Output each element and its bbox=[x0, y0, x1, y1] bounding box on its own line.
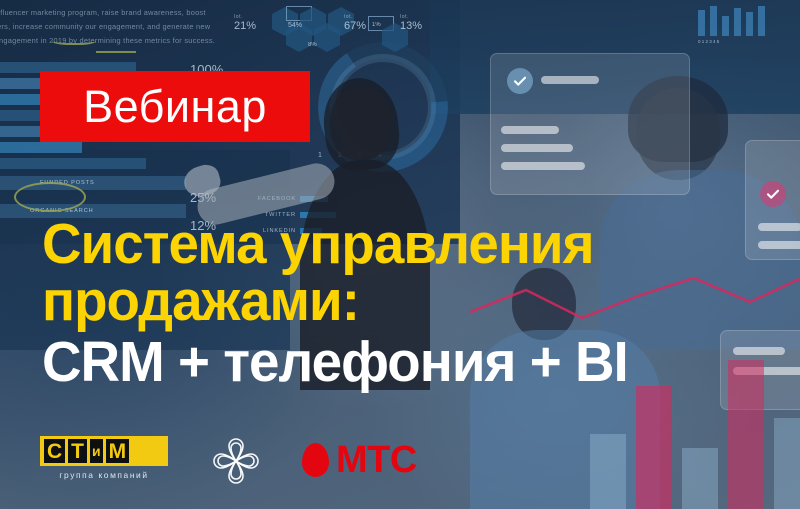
logo-stim-mark: С Т и М bbox=[40, 436, 168, 466]
logo-mts-label: МТС bbox=[336, 441, 417, 479]
webinar-banner: influencer marketing program, raise bran… bbox=[0, 0, 800, 509]
bg-mini-axis: 0 1 2 3 4 5 bbox=[698, 39, 719, 44]
logo-stim[interactable]: С Т и М группа компаний bbox=[40, 436, 168, 480]
knot-icon bbox=[205, 430, 267, 492]
logo-row: С Т и М группа компаний bbox=[0, 425, 800, 509]
overlay-card-primary bbox=[490, 53, 690, 195]
bg-mini-bar-chart: 0 1 2 3 4 5 bbox=[696, 6, 788, 44]
photo-person-woman-head bbox=[330, 86, 392, 160]
highlight-oval-annotation bbox=[14, 182, 86, 212]
headline-line-3: CRM + телефония + BI bbox=[42, 334, 743, 391]
bg-hex-percent-13: lot.13% bbox=[400, 14, 422, 32]
bg-hex-percent-8: 8% bbox=[308, 42, 317, 48]
bg-hexagon bbox=[382, 30, 408, 45]
bg-hex-caption: lot. bbox=[234, 14, 256, 20]
bg-hex-caption: lot. bbox=[400, 14, 422, 20]
logo-stim-letter-m: М bbox=[106, 439, 130, 463]
highlight-scribble-2 bbox=[96, 45, 136, 53]
checkmark-icon bbox=[760, 181, 786, 207]
logo-stim-tagline: группа компаний bbox=[40, 470, 168, 480]
logo-stim-letter-t: Т bbox=[68, 439, 87, 463]
headline-line-2: продажами: bbox=[42, 273, 743, 330]
highlight-scribble-1 bbox=[52, 35, 96, 45]
logo-mts[interactable]: МТС bbox=[302, 441, 417, 479]
headline-block: Система управления продажами: CRM + теле… bbox=[42, 216, 772, 391]
background-paragraph-line-1: influencer marketing program, raise bran… bbox=[0, 6, 206, 21]
checkmark-icon bbox=[507, 68, 533, 94]
webinar-badge-label: Вебинар bbox=[83, 84, 267, 129]
bg-bar bbox=[0, 142, 82, 153]
bg-hex-percent-1: 1% bbox=[372, 22, 381, 28]
bg-hex-percent-67: lot.67% bbox=[344, 14, 366, 32]
bg-hex-caption: lot. bbox=[344, 14, 366, 20]
webinar-badge: Вебинар bbox=[40, 71, 310, 142]
mts-egg-icon bbox=[302, 443, 329, 477]
headline-line-1: Система управления bbox=[42, 216, 743, 273]
logo-stim-letter-s: С bbox=[44, 439, 65, 463]
bg-hex-percent-21: lot.21% bbox=[234, 14, 256, 32]
logo-stim-letter-i: и bbox=[90, 439, 103, 463]
logo-knot[interactable] bbox=[205, 430, 267, 492]
bg-hex-percent-54: 54% bbox=[288, 22, 302, 29]
background-paragraph-line-2: tomers, increase community our engagemen… bbox=[0, 20, 210, 35]
bg-bar bbox=[0, 158, 146, 169]
